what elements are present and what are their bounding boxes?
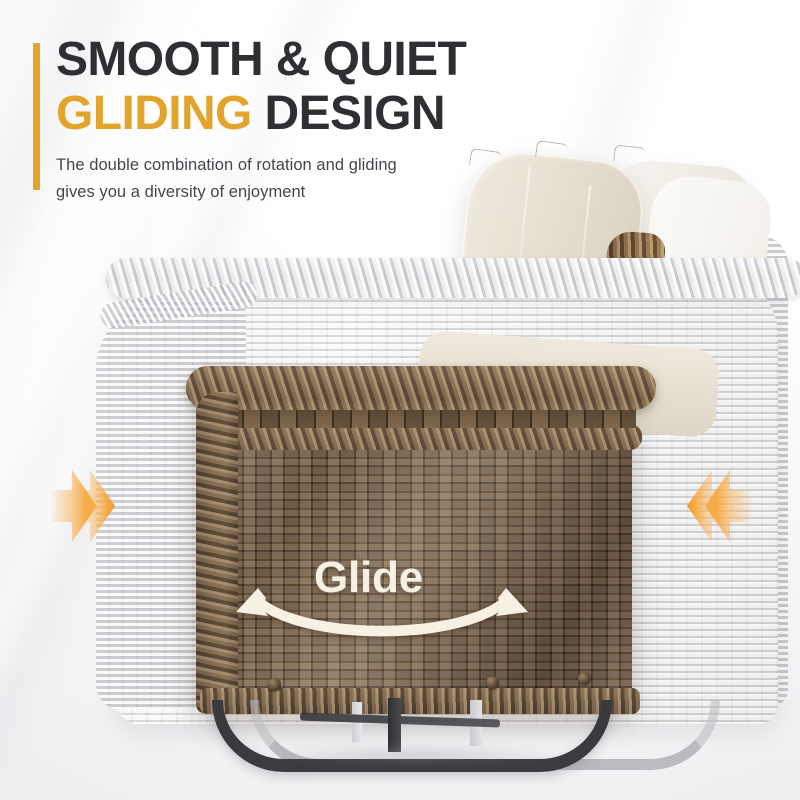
subtitle-line2: gives you a diversity of enjoyment (56, 179, 466, 206)
glide-annotation: Glide (222, 552, 552, 652)
double-chevron-left-icon (678, 468, 752, 549)
accent-bar (33, 43, 40, 190)
page-title-rest: DESIGN (252, 87, 445, 140)
banner-canvas: SMOOTH & QUIET GLIDING DESIGN The double… (0, 0, 800, 800)
double-chevron-right-icon (50, 468, 124, 549)
headline-text-group: SMOOTH & QUIET GLIDING DESIGN The double… (56, 33, 466, 206)
page-title-highlight: GLIDING (56, 87, 252, 140)
page-title-line2: GLIDING DESIGN (56, 87, 466, 141)
subtitle-line1: The double combination of rotation and g… (56, 152, 466, 179)
page-title-line1: SMOOTH & QUIET (56, 33, 466, 87)
glide-double-arrow-icon (222, 586, 542, 652)
